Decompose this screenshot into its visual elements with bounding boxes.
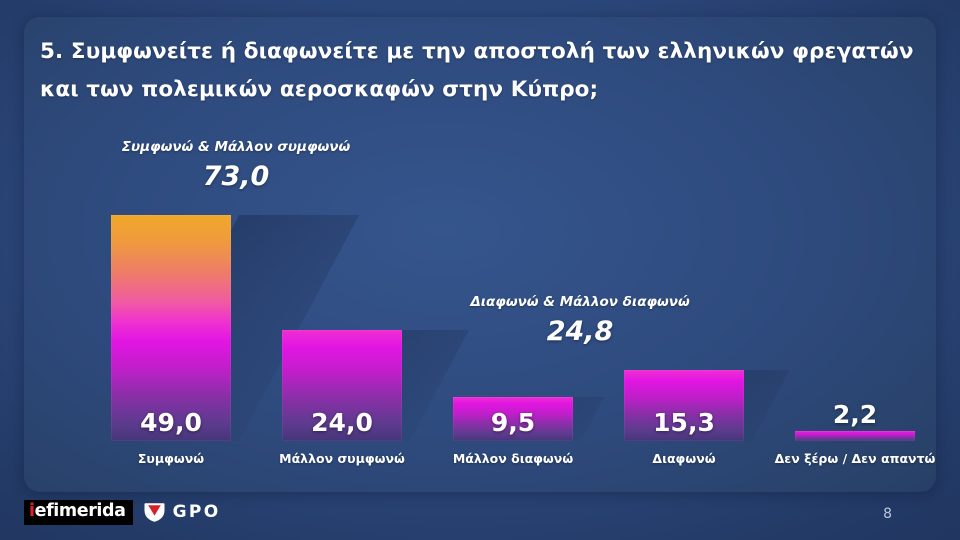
slide-canvas: 5. Συμφωνείτε ή διαφωνείτε με την αποστο… [0,0,960,540]
group-annotation-disagree: Διαφωνώ & Μάλλον διαφωνώ 24,8 [410,294,750,347]
gpo-logo[interactable]: GPO [143,503,221,522]
slide-footer: iefimerida GPO 8 [0,492,960,540]
bar-chart: Συμφωνώ & Μάλλον συμφωνώ 73,0 Διαφωνώ & … [24,17,936,492]
bar-category-label: Μάλλον διαφωνώ [431,451,595,466]
gpo-logo-text: GPO [173,504,221,521]
bar-column[interactable]: 24,0 Μάλλον συμφωνώ [282,330,402,441]
shield-heart-icon [143,503,166,522]
bar-value-label: 2,2 [795,400,915,429]
bar-category-label: Διαφωνώ [602,451,766,466]
bar-value-label: 15,3 [624,408,744,437]
group-annotation-agree: Συμφωνώ & Μάλλον συμφωνώ 73,0 [66,139,406,192]
bar-value-label: 49,0 [111,408,231,437]
bar-category-label: Συμφωνώ [89,451,253,466]
page-number: 8 [883,506,892,522]
brand-logos: iefimerida GPO [24,500,221,525]
group-annotation-disagree-label: Διαφωνώ & Μάλλον διαφωνώ [410,294,750,310]
group-annotation-agree-label: Συμφωνώ & Μάλλον συμφωνώ [66,139,406,155]
bar-value-label: 24,0 [282,408,402,437]
bar-column[interactable]: 9,5 Μάλλον διαφωνώ [453,397,573,441]
group-annotation-agree-value: 73,0 [66,161,406,192]
iefimerida-logo-rest: efimerida [35,501,126,521]
bar-value-label: 9,5 [453,408,573,437]
bar-rect[interactable] [795,431,915,441]
bar-column[interactable]: 15,3 Διαφωνώ [624,370,744,441]
bar-column[interactable]: 2,2 Δεν ξέρω / Δεν απαντώ [795,431,915,441]
slide-panel: 5. Συμφωνείτε ή διαφωνείτε με την αποστο… [24,17,936,492]
bar-category-label: Δεν ξέρω / Δεν απαντώ [773,451,936,466]
group-annotation-disagree-value: 24,8 [410,316,750,347]
bar-category-label: Μάλλον συμφωνώ [260,451,424,466]
iefimerida-logo[interactable]: iefimerida [24,500,133,525]
bar-column[interactable]: 49,0 Συμφωνώ [111,215,231,441]
